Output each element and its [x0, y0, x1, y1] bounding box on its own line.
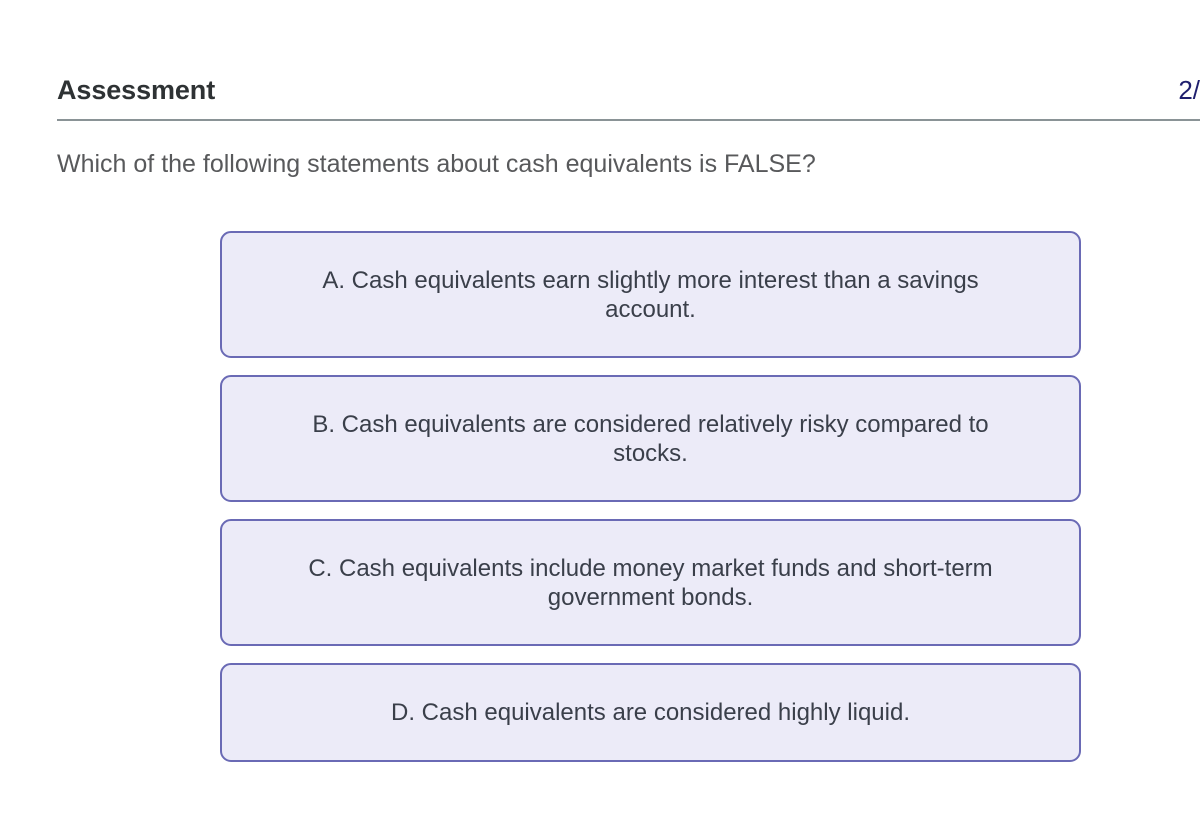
answer-option-c[interactable]: C. Cash equivalents include money market… — [220, 519, 1081, 646]
answer-option-b-label: B. Cash equivalents are considered relat… — [286, 410, 1016, 468]
question-counter: 2/ — [1178, 70, 1200, 110]
answer-options-list: A. Cash equivalents earn slightly more i… — [220, 231, 1081, 762]
page-title: Assessment — [57, 70, 215, 110]
header-divider — [57, 119, 1200, 121]
page-header: Assessment 2/ — [57, 70, 1200, 122]
answer-option-d[interactable]: D. Cash equivalents are considered highl… — [220, 663, 1081, 762]
answer-option-a-label: A. Cash equivalents earn slightly more i… — [286, 266, 1016, 324]
header-row: Assessment 2/ — [57, 70, 1200, 110]
answer-option-c-label: C. Cash equivalents include money market… — [286, 554, 1016, 612]
answer-option-a[interactable]: A. Cash equivalents earn slightly more i… — [220, 231, 1081, 358]
question-text: Which of the following statements about … — [57, 148, 1137, 180]
assessment-page: Assessment 2/ Which of the following sta… — [0, 0, 1200, 813]
answer-option-d-label: D. Cash equivalents are considered highl… — [391, 698, 910, 727]
answer-option-b[interactable]: B. Cash equivalents are considered relat… — [220, 375, 1081, 502]
